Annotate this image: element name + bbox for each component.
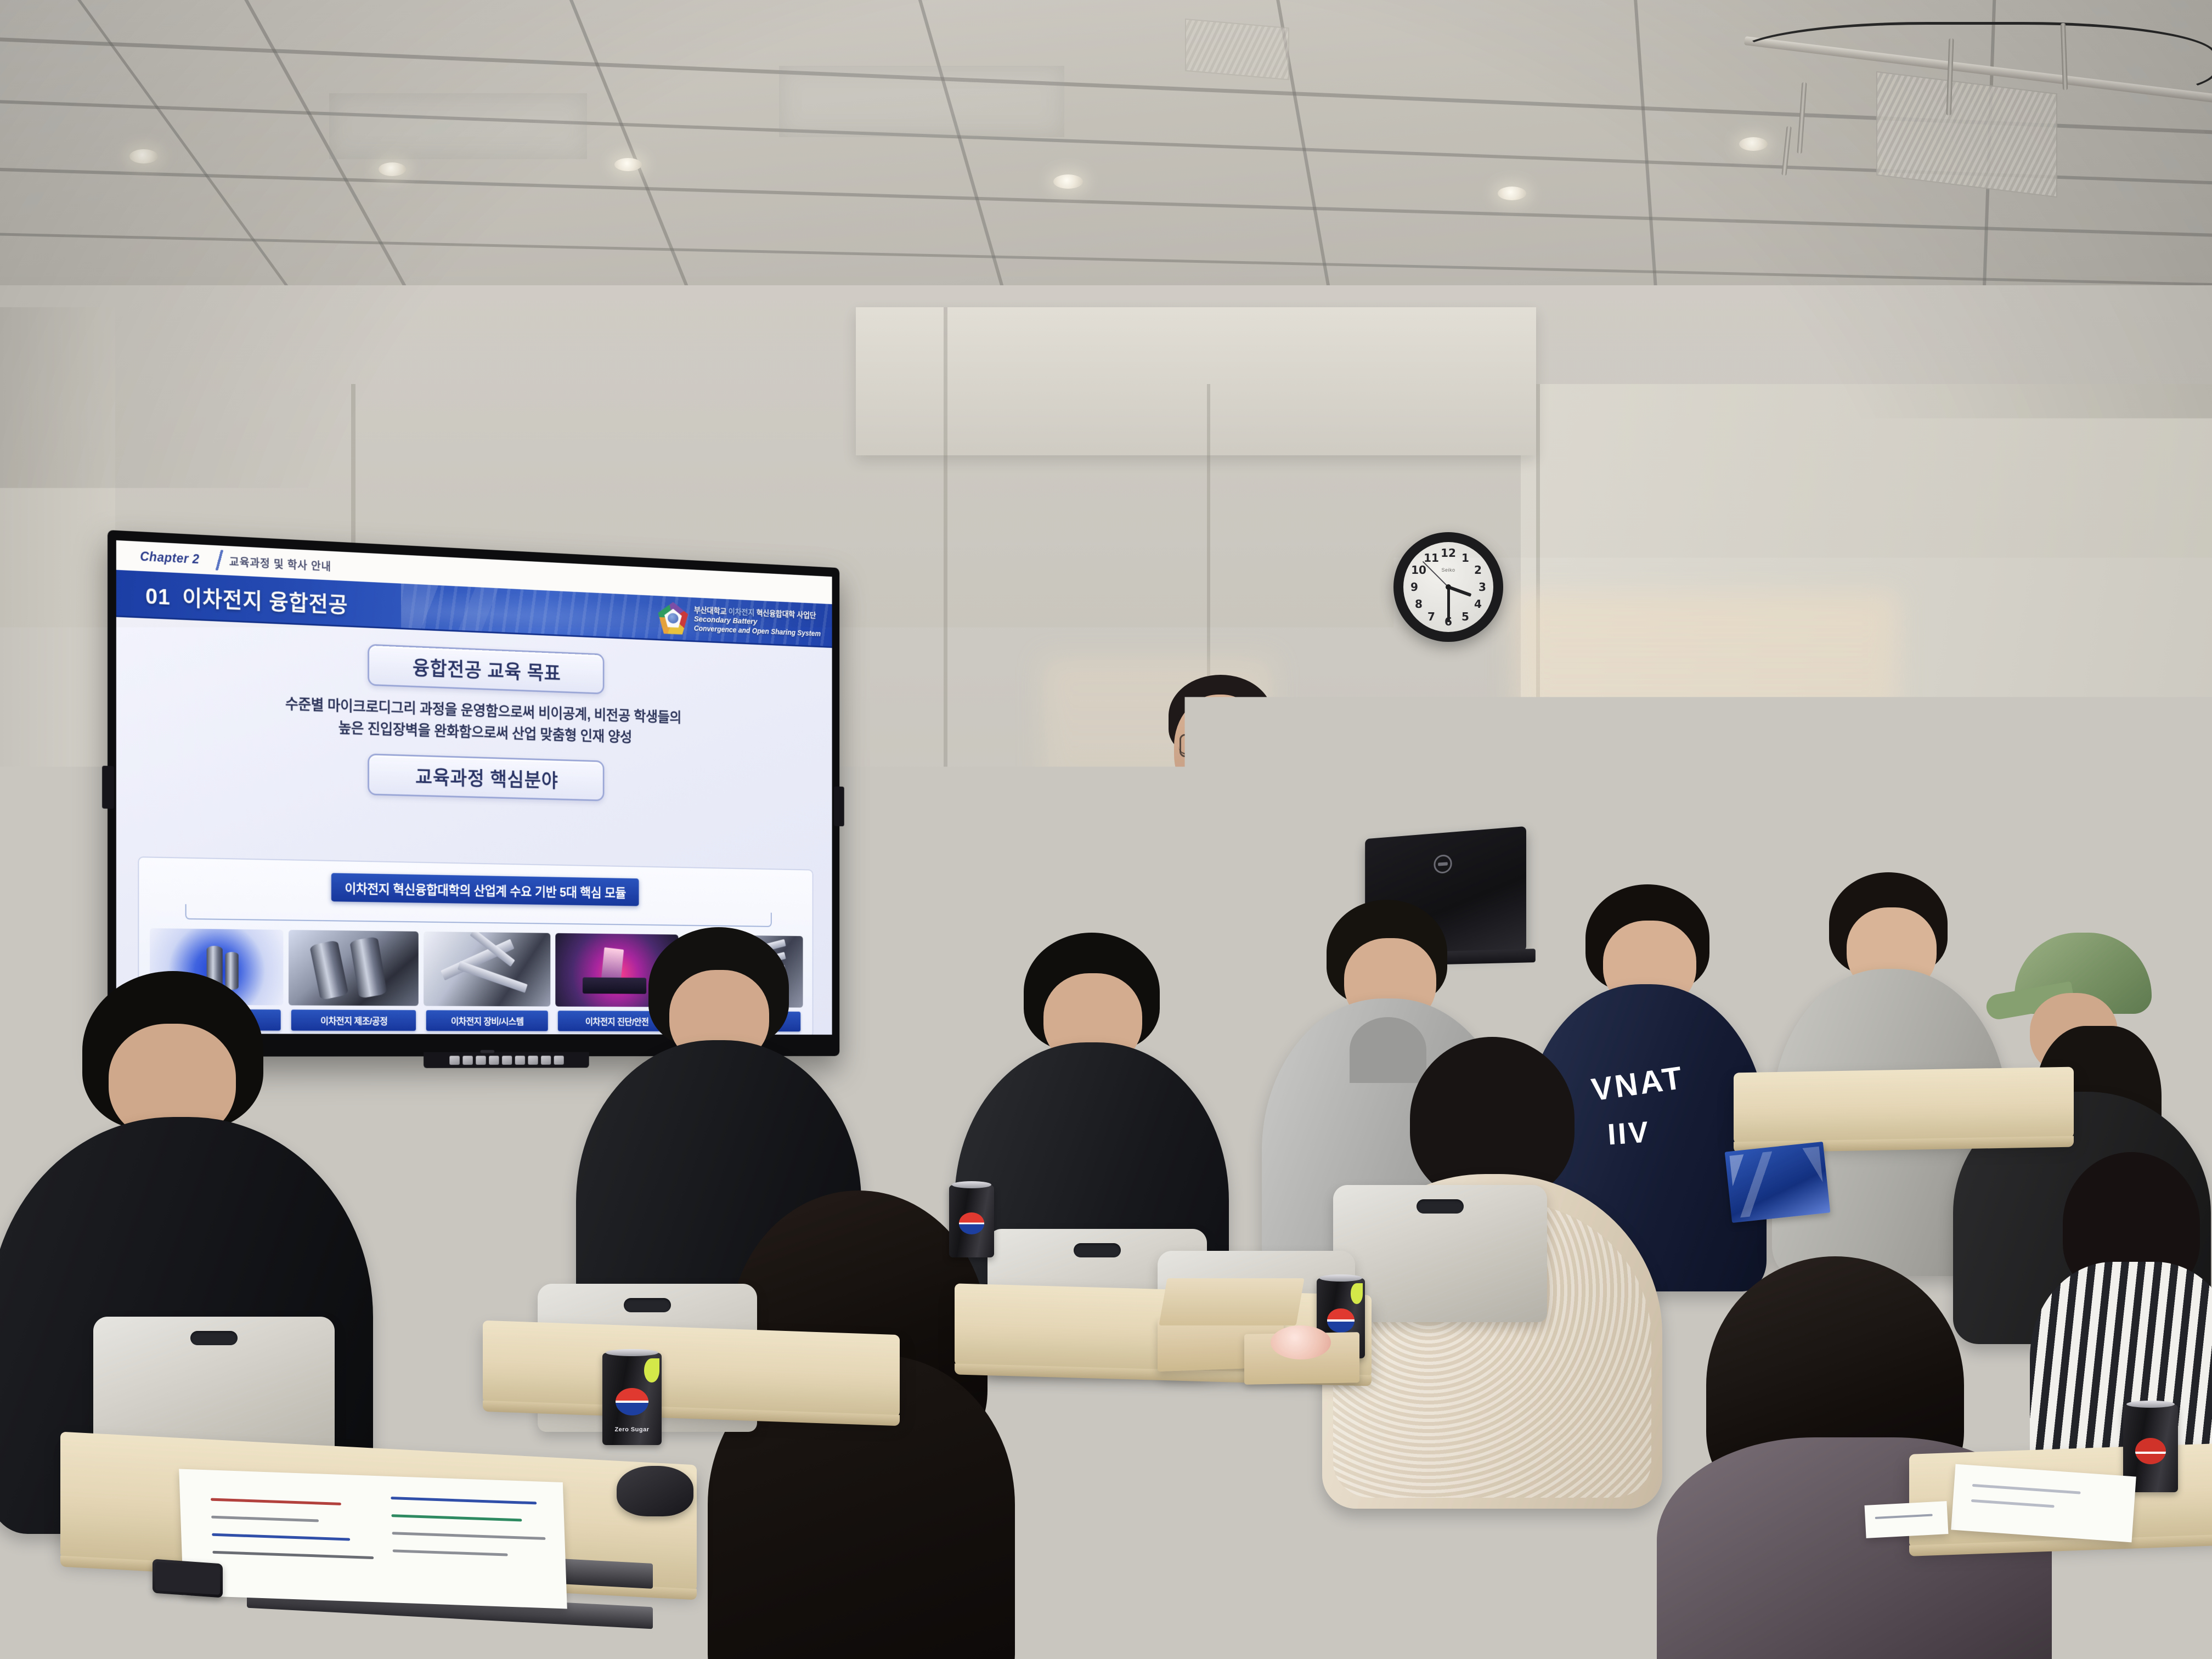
clock-numeral: 11 — [1424, 552, 1439, 564]
ceiling — [0, 0, 2212, 307]
module-banner: 이차전지 혁신융합대학의 산업계 수요 기반 5대 핵심 모듈 — [331, 873, 639, 906]
clock-minute-hand — [1447, 587, 1450, 622]
slide-title: 01이차전지 융합전공 — [116, 577, 348, 619]
clock-numeral: 8 — [1411, 598, 1426, 610]
display-button-volume-up[interactable] — [541, 1056, 551, 1064]
battery-brochure[interactable] — [1725, 1142, 1831, 1223]
smartphone-on-desk[interactable] — [153, 1559, 223, 1598]
chair-handle-slot — [1074, 1243, 1121, 1257]
slide-chapter-label: Chapter 2 — [140, 549, 199, 566]
module-label: 이차전지 장비/시스템 — [426, 1010, 548, 1031]
chair-handle-slot — [624, 1298, 671, 1312]
goal-heading-pill: 융합전공 교육 목표 — [368, 644, 604, 695]
display-ir-sensor — [481, 1050, 495, 1053]
name-card-right — [1865, 1501, 1949, 1538]
can-variant-text: Zero Sugar — [602, 1426, 662, 1433]
clock-numeral: 10 — [1411, 564, 1426, 576]
clock-hour-hand — [1448, 585, 1471, 597]
module-image-equipment — [424, 932, 550, 1007]
clock-face: Seiko 12 1 2 3 4 5 6 7 8 9 10 11 — [1403, 542, 1493, 632]
pepsi-can-mid[interactable] — [949, 1185, 994, 1257]
lecture-hall-photo: Seiko 12 1 2 3 4 5 6 7 8 9 10 11 Chapter — [0, 0, 2212, 1659]
student-desk-right — [1734, 1067, 2074, 1144]
slide-chapter-subtitle: 교육과정 및 학사 안내 — [229, 553, 331, 574]
clock-numeral: 5 — [1458, 611, 1473, 623]
ceiling-downlight — [379, 162, 406, 176]
wall-clock: Seiko 12 1 2 3 4 5 6 7 8 9 10 11 — [1393, 532, 1503, 642]
dell-logo-icon — [1434, 854, 1452, 874]
clock-numeral: 9 — [1407, 581, 1422, 593]
clock-numeral: 7 — [1424, 611, 1439, 623]
chair-handle-slot — [1417, 1199, 1464, 1214]
clock-numeral: 4 — [1470, 598, 1486, 610]
ceiling-downlight — [1739, 137, 1768, 151]
handout-booklet[interactable] — [179, 1469, 567, 1609]
pastry-item — [1271, 1325, 1331, 1359]
module-item: 이차전지 장비/시스템 — [424, 921, 550, 1031]
student-desk-mid-left — [483, 1321, 900, 1418]
display-right-handle — [834, 786, 844, 826]
slide-section-title: 이차전지 융합전공 — [182, 586, 348, 617]
ceiling-downlight — [129, 149, 158, 163]
ceiling-downlight — [614, 158, 642, 171]
clock-numeral: 12 — [1441, 547, 1456, 559]
brand-text-block: 부산대학교 이차전지 혁신융합대학 사업단 Secondary Battery … — [694, 606, 821, 638]
core-heading-pill: 교육과정 핵심분야 — [368, 753, 604, 801]
ceiling-downlight — [1498, 187, 1526, 200]
clock-numeral: 2 — [1470, 564, 1486, 576]
display-left-handle — [102, 766, 114, 809]
clock-center-pin — [1446, 584, 1451, 590]
ceiling-downlight — [1053, 174, 1083, 189]
presenter-glasses-icon — [1178, 736, 1262, 755]
display-button-menu[interactable] — [554, 1056, 564, 1064]
ceiling-soffit — [856, 307, 1536, 455]
clock-numeral: 1 — [1458, 552, 1473, 564]
goal-heading-text: 융합전공 교육 목표 — [413, 653, 561, 686]
display-button-pen-1[interactable] — [476, 1056, 486, 1064]
display-button-volume-down[interactable] — [528, 1056, 538, 1064]
food-container-lid — [1159, 1278, 1304, 1325]
core-heading-text: 교육과정 핵심분야 — [415, 762, 558, 793]
jacket-button — [1216, 883, 1224, 891]
goal-paragraph: 수준별 마이크로디그리 과정을 운영함으로써 비이공계, 비전공 학생들의 높은… — [138, 688, 813, 754]
display-button-eraser[interactable] — [515, 1056, 525, 1064]
pepsi-can-foreground[interactable]: Zero Sugar — [602, 1353, 662, 1445]
pepsi-can-cluster[interactable] — [1388, 1503, 1436, 1585]
chair-handle-slot — [190, 1331, 238, 1345]
pepsi-can-cluster[interactable] — [1520, 1481, 1567, 1558]
pepsi-can-cluster[interactable] — [1459, 1463, 1506, 1534]
display-button-pen-3[interactable] — [502, 1056, 512, 1064]
handout-right-desk[interactable] — [1951, 1464, 2136, 1543]
display-control-tray[interactable] — [424, 1052, 589, 1068]
display-button-pen-2[interactable] — [489, 1056, 499, 1064]
chapter-separator-icon — [211, 550, 227, 571]
pentagon-logo-icon — [658, 601, 689, 635]
computer-mouse[interactable] — [617, 1466, 693, 1516]
ceiling-vent-secondary — [1185, 19, 1289, 81]
clock-numeral: 3 — [1475, 581, 1490, 593]
display-button-source[interactable] — [462, 1056, 472, 1064]
slide-section-number: 01 — [145, 584, 171, 610]
display-button-power[interactable] — [449, 1056, 459, 1064]
